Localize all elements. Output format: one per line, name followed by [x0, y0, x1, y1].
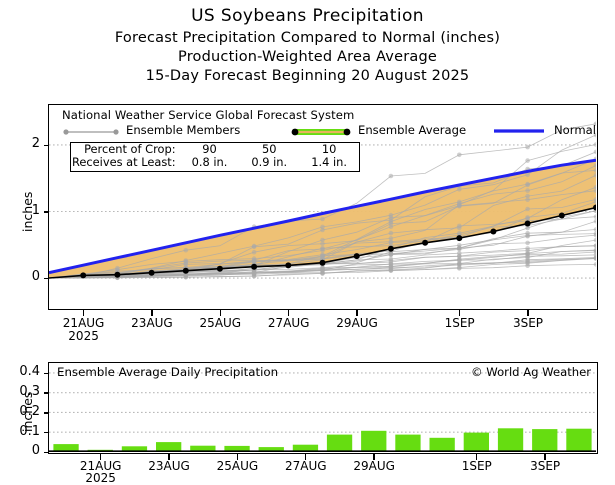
bottom-chart-xtick-label: 3SEP — [505, 459, 585, 473]
legend-label-ensemble-members: Ensemble Members — [126, 123, 240, 137]
copyright-notice: © World Ag Weather — [471, 365, 591, 379]
legend-title: National Weather Service Global Forecast… — [62, 108, 354, 122]
bottom-chart-ytick-label: 0.4 — [4, 364, 40, 379]
subtitle-1: Forecast Precipitation Compared to Norma… — [0, 30, 615, 46]
daily-precipitation-chart: Ensemble Average Daily Precipitation © W… — [48, 362, 598, 454]
legend-entries: Ensemble Members Ensemble Average Normal — [62, 123, 598, 139]
page-title: US Soybeans Precipitation — [0, 6, 615, 26]
bottom-chart-ytick-label: 0.2 — [4, 404, 40, 419]
top-chart-xtick-label: 3SEP — [488, 316, 568, 330]
bottom-chart-title: Ensemble Average Daily Precipitation — [57, 365, 278, 379]
amount-value-50: 0.9 in. — [239, 156, 299, 169]
top-chart-ytick-label: 0 — [14, 269, 40, 284]
bottom-chart-xtick-label: 29AUG — [334, 459, 414, 473]
title-block: US Soybeans Precipitation Forecast Preci… — [0, 0, 615, 84]
bottom-chart-ytick-label: 0.3 — [4, 384, 40, 399]
normal-swatch — [492, 127, 546, 135]
ensemble-average-swatch — [290, 126, 352, 138]
chart-page: US Soybeans Precipitation Forecast Preci… — [0, 0, 615, 482]
bottom-chart-ytick-label: 0 — [4, 443, 40, 458]
legend-label-normal: Normal — [554, 123, 596, 137]
table-row: Receives at Least: 0.8 in. 0.9 in. 1.4 i… — [71, 156, 359, 169]
legend-label-ensemble-average: Ensemble Average — [358, 123, 466, 137]
top-chart-ytick-label: 1 — [14, 203, 40, 218]
top-chart-xtick-label: 29AUG — [317, 316, 397, 330]
ensemble-members-swatch — [62, 128, 120, 136]
subtitle-3: 15-Day Forecast Beginning 20 August 2025 — [0, 68, 615, 84]
bottom-chart-ytick-label: 0.1 — [4, 424, 40, 439]
receives-at-least-label: Receives at Least: — [71, 156, 180, 169]
amount-value-10: 1.4 in. — [299, 156, 359, 169]
bottom-chart-xtick-year: 2025 — [61, 471, 141, 485]
top-chart-ytick-label: 2 — [14, 136, 40, 151]
top-chart-xtick-year: 2025 — [44, 329, 124, 343]
amount-value-90: 0.8 in. — [180, 156, 240, 169]
cumulative-precipitation-chart: National Weather Service Global Forecast… — [48, 104, 598, 310]
percent-of-crop-table: Percent of Crop: 90 50 10 Receives at Le… — [70, 142, 360, 172]
subtitle-2: Production-Weighted Area Average — [0, 49, 615, 65]
